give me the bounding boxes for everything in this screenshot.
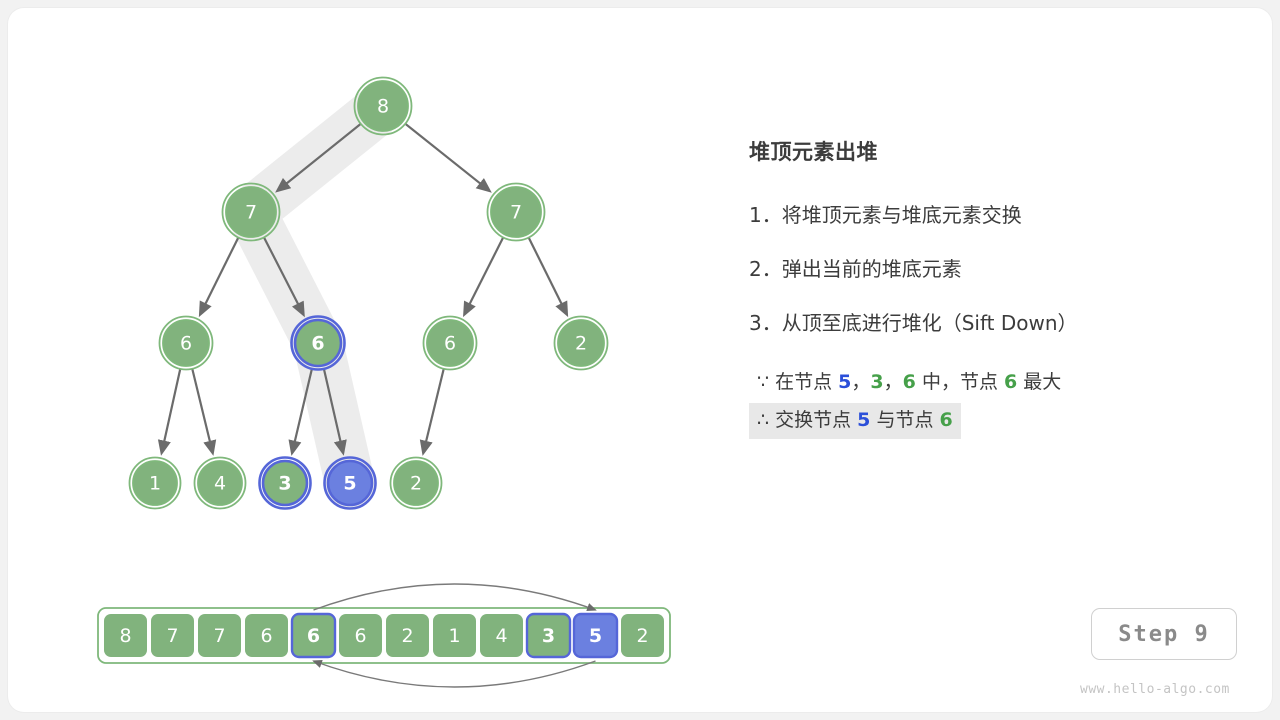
array-cell-11[interactable]: 2 [621,614,664,657]
tree-node-3[interactable]: 3 [260,458,311,509]
note-text: ∵ 在节点 [757,371,838,393]
step-item-1: 1．将堆顶元素与堆底元素交换 [749,203,1219,228]
highlight-path [251,106,383,483]
slide-card: 877666214352 877666214352 堆顶元素出堆 1．将堆顶元素… [8,8,1272,712]
note-value-green: 6 [940,409,953,431]
tree-node-4[interactable]: 4 [195,458,246,509]
reasoning-notes: ∵ 在节点 5，3，6 中，节点 6 最大∴ 交换节点 5 与节点 6 [749,365,1219,438]
tree-edges [162,124,567,453]
tree-edge [423,369,443,453]
tree-node-8[interactable]: 8 [355,78,412,135]
node-label: 7 [510,202,522,224]
array-cell-value: 8 [119,625,131,647]
sift-down-path-highlight [251,106,383,483]
watermark: www.hello-algo.com [1080,682,1230,697]
tree-node-2[interactable]: 2 [391,458,442,509]
note-text: ， [851,371,870,393]
array-cell-7[interactable]: 1 [433,614,476,657]
node-label: 2 [575,333,587,355]
note-value-green: 3 [870,371,883,393]
note-text: ∴ 交换节点 [757,409,857,431]
note-text: 最大 [1017,371,1061,393]
array-cell-4[interactable]: 6 [292,614,335,657]
array-cell-0[interactable]: 8 [104,614,147,657]
array-cell-9[interactable]: 3 [527,614,570,657]
array-cell-value: 2 [401,625,413,647]
array-cell-1[interactable]: 7 [151,614,194,657]
tree-node-2[interactable]: 2 [555,317,608,370]
array-cell-2[interactable]: 7 [198,614,241,657]
note-highlighted: ∴ 交换节点 5 与节点 6 [749,403,961,439]
node-label: 6 [180,333,192,355]
node-label: 5 [343,473,356,495]
tree-node-1[interactable]: 1 [130,458,181,509]
array-cell-value: 6 [307,625,320,647]
array-cell-3[interactable]: 6 [245,614,288,657]
tree-node-6[interactable]: 6 [292,317,345,370]
tree-node-6[interactable]: 6 [424,317,477,370]
array-cell-value: 6 [260,625,272,647]
tree-node-6[interactable]: 6 [160,317,213,370]
node-label: 6 [444,333,456,355]
array-cell-value: 3 [542,625,555,647]
tree-edge [192,369,212,453]
note-value-blue: 5 [857,409,870,431]
explanation-panel: 堆顶元素出堆 1．将堆顶元素与堆底元素交换2．弹出当前的堆底元素3．从顶至底进行… [749,140,1219,441]
array-cell-value: 7 [213,625,225,647]
array-cell-value: 6 [354,625,366,647]
step-badge: Step 9 [1091,608,1237,660]
tree-node-7[interactable]: 7 [488,184,545,241]
step-item-2: 2．弹出当前的堆底元素 [749,257,1219,282]
heap-figure: 877666214352 877666214352 [8,8,728,708]
node-label: 7 [245,202,257,224]
steps-list: 1．将堆顶元素与堆底元素交换2．弹出当前的堆底元素3．从顶至底进行堆化（Sift… [749,203,1219,336]
tree-edge [162,369,180,452]
array-cell-10[interactable]: 5 [574,614,617,657]
tree-edge [464,238,503,315]
tree-edge [406,124,490,191]
node-label: 6 [311,333,324,355]
node-label: 2 [410,473,422,495]
note-row-2: ∴ 交换节点 5 与节点 6 [749,403,1219,439]
note-row-1: ∵ 在节点 5，3，6 中，节点 6 最大 [749,365,1219,401]
node-label: 4 [214,473,226,495]
swap-arrow [314,661,596,687]
note-text: ， [884,371,903,393]
tree-node-5[interactable]: 5 [325,458,376,509]
note-value-green: 6 [1004,371,1017,393]
page-title: 堆顶元素出堆 [749,140,1219,165]
slide-canvas: 877666214352 877666214352 堆顶元素出堆 1．将堆顶元素… [0,0,1280,720]
note-value-blue: 5 [838,371,851,393]
tree-edge [529,238,567,314]
array-representation: 877666214352 [98,584,670,687]
tree-node-7[interactable]: 7 [223,184,280,241]
array-cell-8[interactable]: 4 [480,614,523,657]
array-cell-value: 2 [636,625,648,647]
array-cell-value: 5 [589,625,602,647]
note-text: 中，节点 [916,371,1004,393]
array-cell-value: 7 [166,625,178,647]
tree-edge [200,238,238,314]
array-cell-value: 4 [495,625,507,647]
swap-arrow [314,584,596,610]
array-cell-5[interactable]: 6 [339,614,382,657]
note-value-green: 6 [903,371,916,393]
note-text: 与节点 [870,409,939,431]
array-cell-6[interactable]: 2 [386,614,429,657]
node-label: 3 [278,473,291,495]
node-label: 1 [149,473,161,495]
note-plain: ∵ 在节点 5，3，6 中，节点 6 最大 [749,365,1069,401]
node-label: 8 [377,96,389,118]
step-item-3: 3．从顶至底进行堆化（Sift Down） [749,311,1219,336]
array-cell-value: 1 [448,625,460,647]
